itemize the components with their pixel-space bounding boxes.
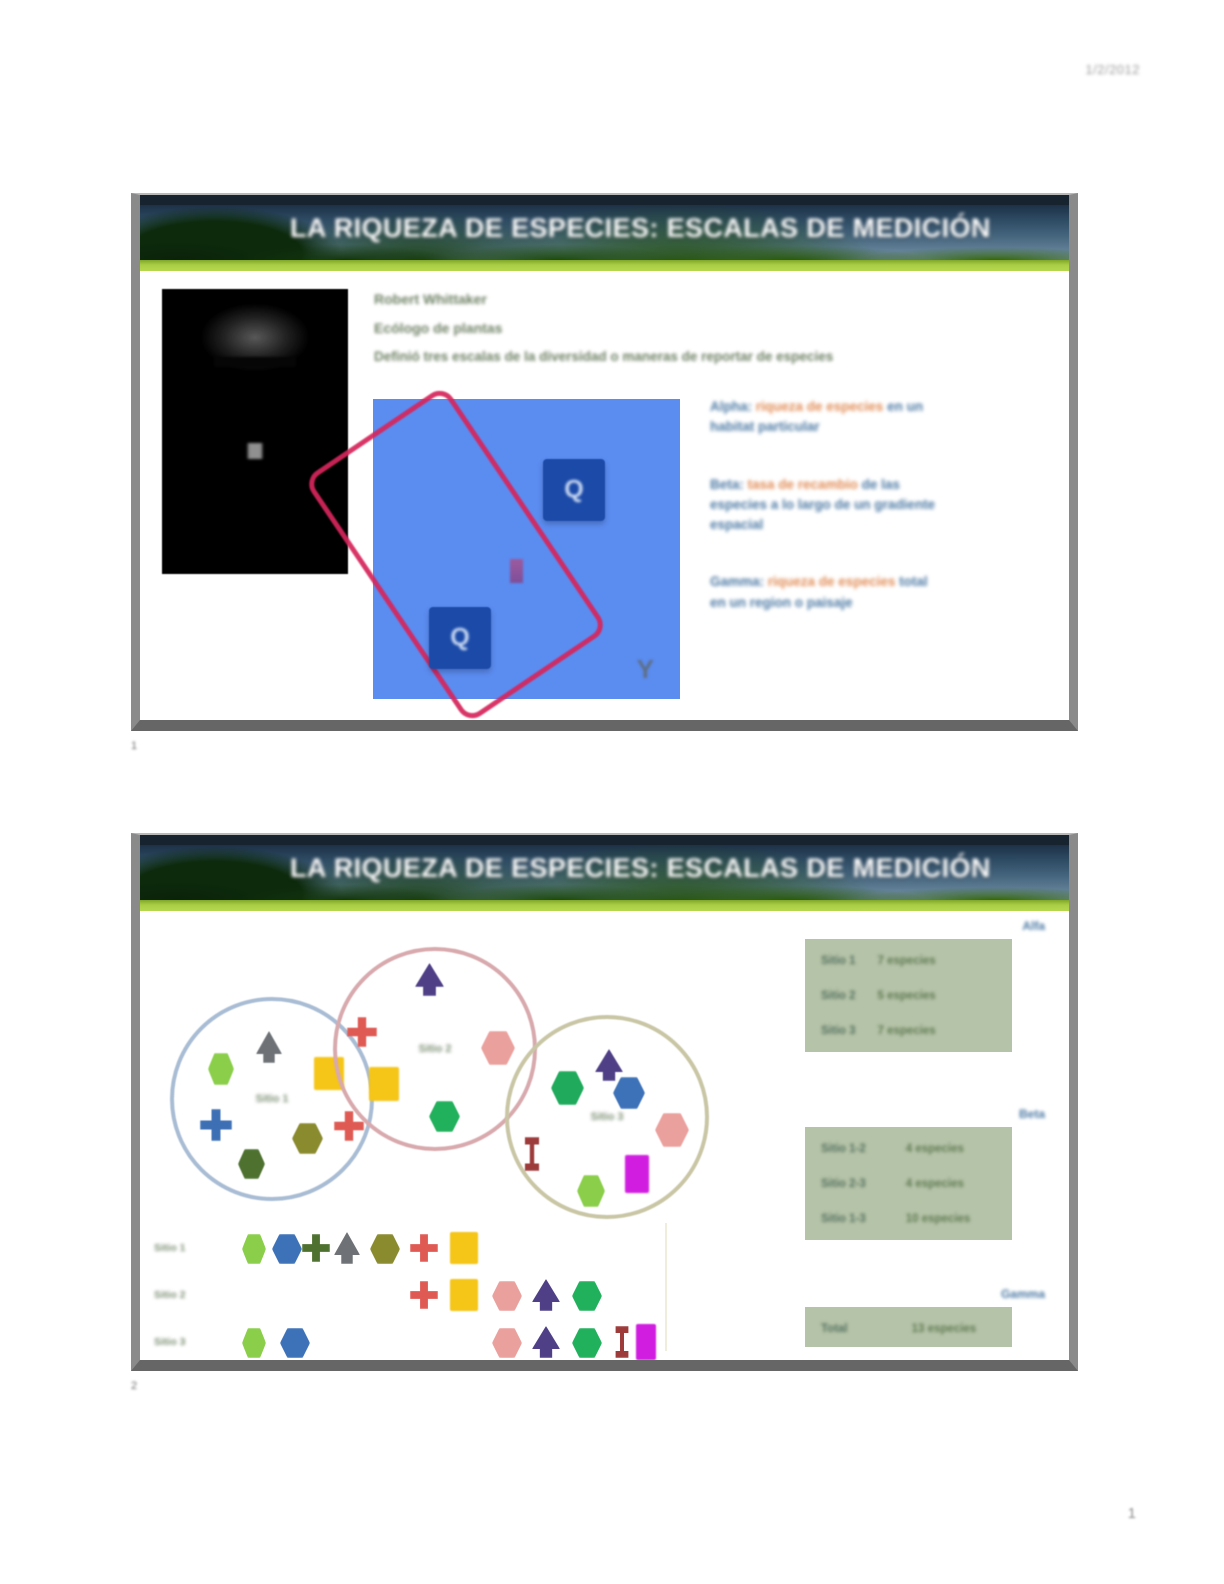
stat-row-alfa-3: Sitio 37 especies bbox=[821, 1021, 936, 1039]
bullet-alpha: Alpha: riqueza de especies en un habitat… bbox=[710, 397, 1062, 438]
bullet-gamma-line-1: Gamma: riqueza de especies total bbox=[710, 572, 1062, 592]
species-green2-hex bbox=[572, 1328, 602, 1358]
species-purple-cone bbox=[595, 1049, 623, 1081]
habitat-node-b: Q bbox=[429, 607, 491, 669]
species-darkgreen-hex bbox=[238, 1149, 265, 1179]
bullet-beta: Beta: tasa de recambio de las especies a… bbox=[710, 475, 1062, 536]
stat-key: Sitio 2 bbox=[821, 990, 856, 1002]
site-circle-3-label: Sitio 3 bbox=[590, 1111, 623, 1123]
stat-box-beta: Sitio 1-24 especiesSitio 2-34 especiesSi… bbox=[805, 1127, 1012, 1240]
stat-row-alfa-2: Sitio 25 especies bbox=[821, 986, 936, 1004]
stat-row-beta-2: Sitio 2-34 especies bbox=[821, 1174, 964, 1192]
venn-diagram: Sitio 1 Sitio 2 Sitio 3 bbox=[150, 911, 760, 1241]
bullet-beta-highlight: tasa de recambio bbox=[748, 477, 858, 492]
species-green-hex bbox=[242, 1234, 266, 1264]
stat-row-alfa-1: Sitio 17 especies bbox=[821, 951, 936, 969]
bullet-gamma-pre: Gamma: bbox=[710, 574, 768, 589]
stat-key: Sitio 1 bbox=[821, 955, 856, 967]
slide-2-banner: LA RIQUEZA DE ESPECIES: ESCALAS DE MEDIC… bbox=[140, 835, 1069, 911]
species-green-hex bbox=[242, 1328, 266, 1358]
stat-value: 7 especies bbox=[878, 1025, 936, 1037]
species-blue-hex bbox=[272, 1234, 302, 1264]
species-lightgreen-hex bbox=[577, 1175, 605, 1207]
slide-1-title: LA RIQUEZA DE ESPECIES: ESCALAS DE MEDIC… bbox=[290, 213, 1051, 244]
species-darkred-ibar bbox=[612, 1326, 632, 1358]
species-blue-hex bbox=[280, 1328, 310, 1358]
stat-key: Sitio 1-2 bbox=[821, 1143, 866, 1155]
slide-1-content: LA RIQUEZA DE ESPECIES: ESCALAS DE MEDIC… bbox=[140, 195, 1069, 720]
species-olive-hex bbox=[292, 1123, 323, 1154]
page-number: 1 bbox=[1128, 1505, 1136, 1522]
stat-box-alfa: Sitio 17 especiesSitio 25 especiesSitio … bbox=[805, 939, 1012, 1052]
stat-value: 5 especies bbox=[878, 990, 936, 1002]
site-species-legend: Sitio 1 Sitio 2 Sitio 3 bbox=[154, 1230, 754, 1360]
slide-2[interactable]: LA RIQUEZA DE ESPECIES: ESCALAS DE MEDIC… bbox=[131, 833, 1078, 1371]
crimson-transect-outline bbox=[303, 385, 609, 720]
stat-heading-alfa: Alfa bbox=[1022, 919, 1045, 933]
species-purple-cone bbox=[532, 1279, 560, 1311]
page-header-date: 1/2/2012 bbox=[1085, 62, 1140, 77]
legend-row-site-3: Sitio 3 bbox=[154, 1324, 754, 1360]
species-green-hex bbox=[551, 1071, 584, 1105]
species-green-hex bbox=[429, 1101, 460, 1132]
site-circle-3: Sitio 3 bbox=[505, 1015, 709, 1219]
stat-value: 4 especies bbox=[906, 1178, 964, 1190]
slide-2-title: LA RIQUEZA DE ESPECIES: ESCALAS DE MEDIC… bbox=[290, 853, 1051, 884]
stat-row-beta-3: Sitio 1-310 especies bbox=[821, 1209, 970, 1227]
species-pink-hex bbox=[655, 1113, 689, 1147]
species-green-hex bbox=[208, 1053, 234, 1085]
habitat-node-a: Q bbox=[543, 459, 605, 521]
alpha-beta-gamma-diagram: Q Q Y bbox=[373, 399, 680, 699]
stat-row-gamma-1: Total13 especies bbox=[821, 1319, 976, 1337]
stat-value: 7 especies bbox=[878, 955, 936, 967]
species-pink-hex bbox=[481, 1031, 515, 1065]
habitat-node-b-glyph: Q bbox=[450, 624, 469, 653]
slide-1-banner: LA RIQUEZA DE ESPECIES: ESCALAS DE MEDIC… bbox=[140, 195, 1069, 271]
bullet-alpha-line-1: Alpha: riqueza de especies en un bbox=[710, 397, 1062, 417]
bullet-beta-line-3: espacial bbox=[710, 515, 1062, 535]
heading-line-1: Robert Whittaker bbox=[374, 291, 1064, 307]
slide-2-content: LA RIQUEZA DE ESPECIES: ESCALAS DE MEDIC… bbox=[140, 835, 1069, 1360]
heading-line-3: Definió tres escalas de la diversidad o … bbox=[374, 349, 1064, 364]
bullet-alpha-pre: Alpha: bbox=[710, 399, 756, 414]
species-yellow-square bbox=[450, 1279, 478, 1311]
species-purple-cone bbox=[532, 1326, 560, 1358]
species-blue-hex bbox=[613, 1077, 645, 1109]
species-red-cross bbox=[347, 1017, 377, 1047]
stat-row-beta-1: Sitio 1-24 especies bbox=[821, 1139, 964, 1157]
portrait-photo bbox=[162, 289, 348, 574]
bullet-gamma: Gamma: riqueza de especies total en un r… bbox=[710, 572, 1062, 613]
stat-box-gamma: Total13 especies bbox=[805, 1307, 1012, 1347]
species-purple-cone bbox=[415, 963, 444, 996]
stat-key: Sitio 2-3 bbox=[821, 1178, 866, 1190]
legend-row-site-1: Sitio 1 bbox=[154, 1230, 754, 1277]
slide-1-caption: 1 bbox=[131, 740, 138, 752]
species-blue-cross bbox=[200, 1109, 232, 1141]
species-pink-hex bbox=[492, 1328, 522, 1358]
legend-vertical-divider bbox=[665, 1223, 667, 1351]
heading-line-2: Ecólogo de plantas bbox=[374, 320, 1064, 336]
habitat-node-a-glyph: Q bbox=[564, 476, 583, 505]
legend-row-site-3-label: Sitio 3 bbox=[154, 1336, 186, 1348]
species-darkred-ibar bbox=[521, 1137, 543, 1171]
bullet-beta-line-1: Beta: tasa de recambio de las bbox=[710, 475, 1062, 495]
bullet-beta-pre: Beta: bbox=[710, 477, 748, 492]
site-circle-1-label: Sitio 1 bbox=[255, 1093, 288, 1105]
species-red-cross bbox=[410, 1281, 438, 1309]
species-yellow-square bbox=[369, 1067, 399, 1101]
stat-key: Sitio 1-3 bbox=[821, 1213, 866, 1225]
bullet-alpha-line-2: habitat particular bbox=[710, 417, 1062, 437]
slide-1[interactable]: LA RIQUEZA DE ESPECIES: ESCALAS DE MEDIC… bbox=[131, 193, 1078, 731]
species-olive-hex bbox=[370, 1234, 400, 1264]
species-yellow-square bbox=[450, 1232, 478, 1264]
bullet-gamma-highlight: riqueza de especies bbox=[768, 574, 896, 589]
slide-2-caption: 2 bbox=[131, 1380, 138, 1392]
legend-row-site-2-label: Sitio 2 bbox=[154, 1289, 186, 1301]
bullet-beta-line-2: especies a lo largo de un gradiente bbox=[710, 495, 1062, 515]
bullet-beta-post: de las bbox=[858, 477, 900, 492]
banner-lime-stripe bbox=[140, 260, 1069, 271]
bullet-gamma-line-2: en un region o paisaje bbox=[710, 593, 1062, 613]
legend-row-site-1-label: Sitio 1 bbox=[154, 1242, 186, 1254]
banner-lime-stripe bbox=[140, 900, 1069, 911]
stat-value: 13 especies bbox=[912, 1323, 977, 1335]
bullet-alpha-post: en un bbox=[883, 399, 923, 414]
species-magenta-bar bbox=[636, 1324, 656, 1360]
species-gray-cone bbox=[334, 1232, 360, 1264]
species-magenta-bar bbox=[625, 1155, 649, 1193]
stat-key: Total bbox=[821, 1323, 848, 1335]
species-green-hex bbox=[572, 1281, 602, 1311]
bullet-gamma-post: total bbox=[895, 574, 927, 589]
species-pink-hex bbox=[492, 1281, 522, 1311]
stat-key: Sitio 3 bbox=[821, 1025, 856, 1037]
species-gray-cone bbox=[256, 1031, 282, 1063]
stat-value: 4 especies bbox=[906, 1143, 964, 1155]
purple-marker-icon bbox=[510, 559, 523, 583]
stat-value: 10 especies bbox=[906, 1213, 971, 1225]
banner-top-navy-bar bbox=[140, 835, 1069, 845]
banner-top-navy-bar bbox=[140, 195, 1069, 205]
stat-heading-gamma: Gamma bbox=[1001, 1287, 1045, 1301]
slide-1-bullets: Alpha: riqueza de especies en un habitat… bbox=[710, 397, 1062, 650]
stat-heading-beta: Beta bbox=[1019, 1107, 1045, 1121]
species-darkgreen-cross bbox=[302, 1234, 330, 1262]
species-red-cross bbox=[410, 1234, 438, 1262]
corner-glyph: Y bbox=[637, 654, 654, 685]
slide-1-heading-block: Robert Whittaker Ecólogo de plantas Defi… bbox=[374, 291, 1064, 377]
legend-row-site-2: Sitio 2 bbox=[154, 1277, 754, 1324]
site-circle-2-label: Sitio 2 bbox=[418, 1043, 451, 1055]
bullet-alpha-highlight: riqueza de especies bbox=[756, 399, 884, 414]
